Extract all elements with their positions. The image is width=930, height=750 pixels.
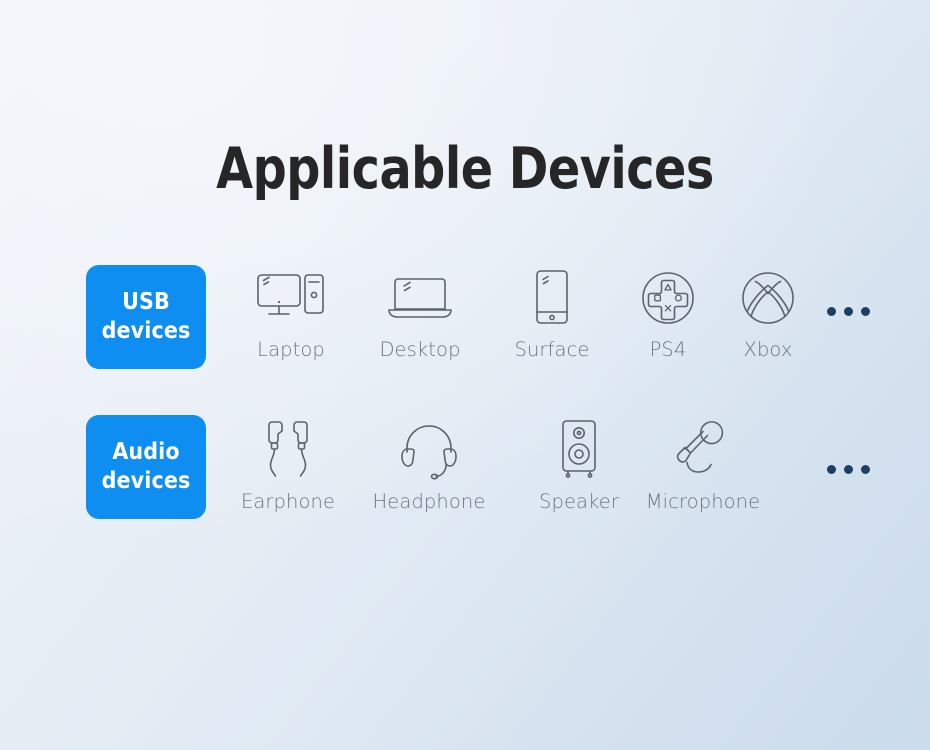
audio-badge-line2: devices [102,467,191,496]
device-label: Microphone [644,490,762,513]
usb-devices-row: USB devices Lapt [0,265,930,385]
device-label: Earphone [229,490,347,513]
device-item-desktop: Desktop [361,265,479,361]
page-title: Applicable Devices [33,136,898,202]
device-item-headphone: Headphone [370,415,488,513]
device-item-xbox: Xbox [709,265,827,361]
device-label: Surface [493,338,611,361]
ellipsis-dot [844,465,853,474]
ellipsis-dot [861,307,870,316]
desktop-monitor-tower-icon [232,265,350,331]
speaker-icon [520,415,638,483]
device-item-laptop: Laptop [232,265,350,361]
audio-badge-line1: Audio [112,438,179,467]
device-label: Speaker [520,490,638,513]
ellipsis-dot [827,307,836,316]
device-item-speaker: Speaker [520,415,638,513]
audio-device-list: Earphone Headphone [232,415,832,533]
usb-badge-line2: devices [102,317,191,346]
device-item-surface: Surface [493,265,611,361]
device-label: Xbox [709,338,827,361]
xbox-logo-icon [709,265,827,331]
device-item-earphone: Earphone [229,415,347,513]
device-label: Laptop [232,338,350,361]
laptop-icon [361,265,479,331]
applicable-devices-infographic: Applicable Devices USB devices [0,0,930,750]
usb-badge-line1: USB [122,288,170,317]
device-label: Desktop [361,338,479,361]
headset-icon [370,415,488,483]
ellipsis-dot [861,465,870,474]
usb-device-list: Laptop Desktop [232,265,832,383]
ellipsis-dot [827,465,836,474]
audio-more-ellipsis[interactable] [827,465,870,474]
usb-devices-badge: USB devices [86,265,206,369]
ellipsis-dot [844,307,853,316]
usb-more-ellipsis[interactable] [827,307,870,316]
device-label: Headphone [370,490,488,513]
microphone-icon [644,415,762,483]
earbuds-icon [229,415,347,483]
tablet-icon [493,265,611,331]
audio-devices-row: Audio devices Earphone [0,415,930,535]
audio-devices-badge: Audio devices [86,415,206,519]
device-item-microphone: Microphone [644,415,762,513]
